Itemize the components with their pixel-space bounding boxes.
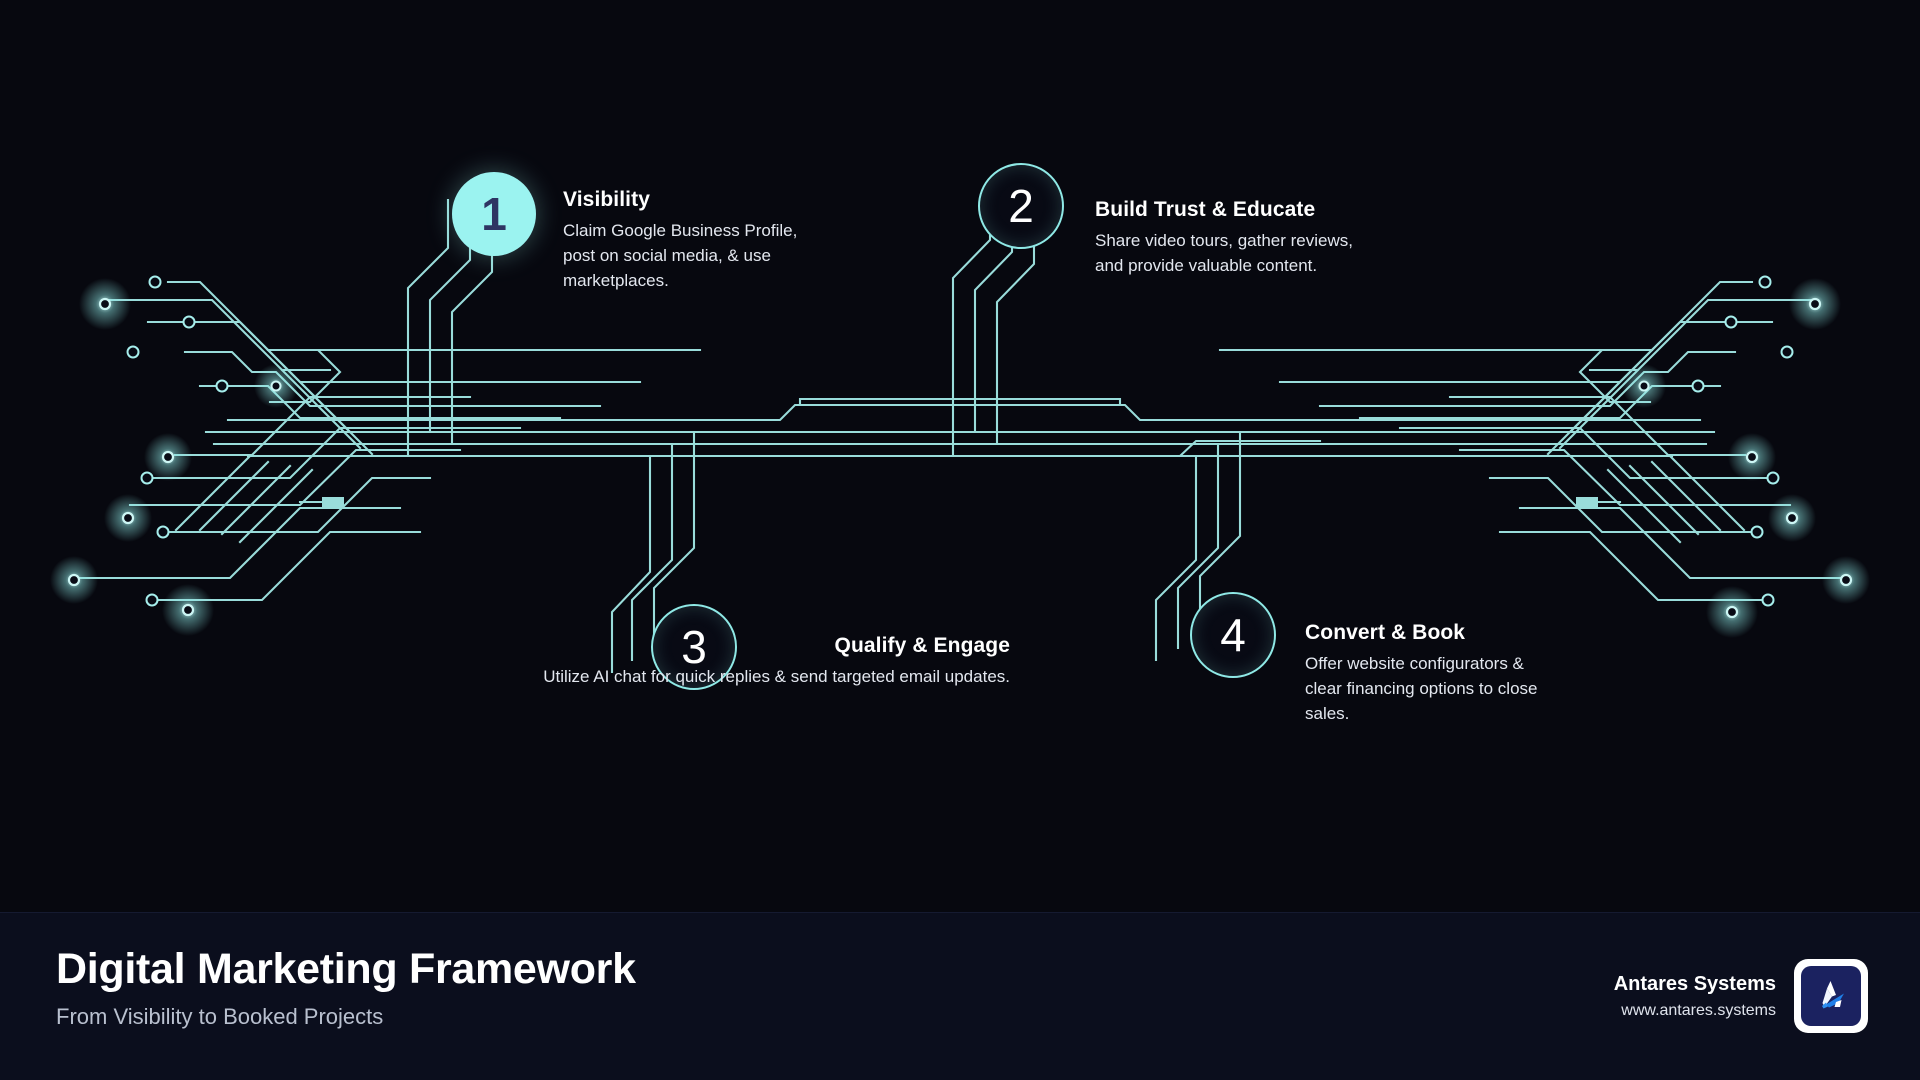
step-4-number: 4 (1220, 612, 1246, 658)
step-1-title: Visibility (563, 188, 823, 212)
step-1-number-badge[interactable]: 1 (452, 172, 536, 256)
brand-logo-tile (1801, 966, 1861, 1026)
circuit-glow-nodes (50, 278, 1870, 638)
step-4-description: Offer website configurators & clear fina… (1305, 652, 1555, 726)
step-4-number-badge[interactable]: 4 (1190, 592, 1276, 678)
brand-block: Antares Systems www.antares.systems (1614, 959, 1868, 1033)
step-3-description: Utilize AI chat for quick replies & send… (520, 665, 1010, 690)
step-2-title: Build Trust & Educate (1095, 198, 1355, 222)
antares-a-logo-icon (1811, 976, 1851, 1016)
step-2-text: Build Trust & Educate Share video tours,… (1095, 198, 1355, 279)
step-2-description: Share video tours, gather reviews, and p… (1095, 229, 1355, 279)
step-2-number-badge[interactable]: 2 (978, 163, 1064, 249)
step-1-description: Claim Google Business Profile, post on s… (563, 219, 823, 293)
footer-bar: Digital Marketing Framework From Visibil… (0, 912, 1920, 1080)
brand-text: Antares Systems www.antares.systems (1614, 973, 1776, 1020)
step-4-title: Convert & Book (1305, 621, 1555, 645)
brand-name: Antares Systems (1614, 973, 1776, 996)
circuit-endpoints (128, 277, 1793, 606)
page-title: Digital Marketing Framework (56, 945, 636, 994)
page-subtitle: From Visibility to Booked Projects (56, 1004, 383, 1030)
step-2-number: 2 (1008, 183, 1034, 229)
step-3-title: Qualify & Engage (520, 634, 1010, 658)
step-1-number: 1 (481, 191, 507, 237)
step-1-text: Visibility Claim Google Business Profile… (563, 188, 823, 293)
brand-logo[interactable] (1794, 959, 1868, 1033)
infographic-canvas: 1 Visibility Claim Google Business Profi… (0, 0, 1920, 1080)
step-3-text: Qualify & Engage Utilize AI chat for qui… (520, 634, 1010, 690)
brand-url[interactable]: www.antares.systems (1614, 1002, 1776, 1020)
step-4-text: Convert & Book Offer website configurato… (1305, 621, 1555, 726)
